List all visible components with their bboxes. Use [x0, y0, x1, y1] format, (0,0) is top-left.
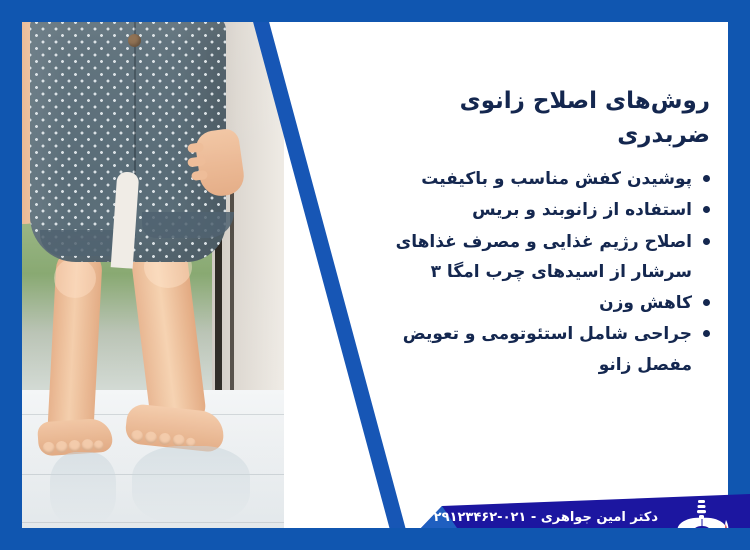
photo-floor-reflection-right — [132, 446, 250, 524]
list-item: جراحی شامل استئوتومی و تعویض مفصل زانو — [366, 319, 714, 380]
photo-child-left-knee — [54, 258, 96, 298]
bottom-blue-strip — [0, 528, 750, 550]
content-panel: روش‌های اصلاح زانوی ضربدری پوشیدن کفش من… — [352, 22, 728, 528]
list-item: کاهش وزن — [366, 288, 714, 318]
list-item: اصلاح رژیم غذایی و مصرف غذاهای سرشار از … — [366, 227, 714, 288]
photo-floor-reflection-left — [50, 452, 116, 526]
photo-floor-line-3 — [22, 522, 284, 523]
inner-card: روش‌های اصلاح زانوی ضربدری پوشیدن کفش من… — [22, 22, 728, 528]
treatment-list: پوشیدن کفش مناسب و باکیفیت استفاده از زا… — [366, 164, 714, 381]
infographic-canvas: روش‌های اصلاح زانوی ضربدری پوشیدن کفش من… — [0, 0, 750, 550]
photo-child-left-foot — [37, 417, 113, 456]
photo-shorts-hem-right — [142, 212, 234, 238]
list-item: پوشیدن کفش مناسب و باکیفیت — [366, 164, 714, 194]
child-walking-photo — [22, 22, 284, 528]
page-title: روش‌های اصلاح زانوی ضربدری — [370, 85, 710, 152]
list-item: استفاده از زانوبند و بریس — [366, 195, 714, 225]
photo-shorts-button — [128, 34, 141, 47]
